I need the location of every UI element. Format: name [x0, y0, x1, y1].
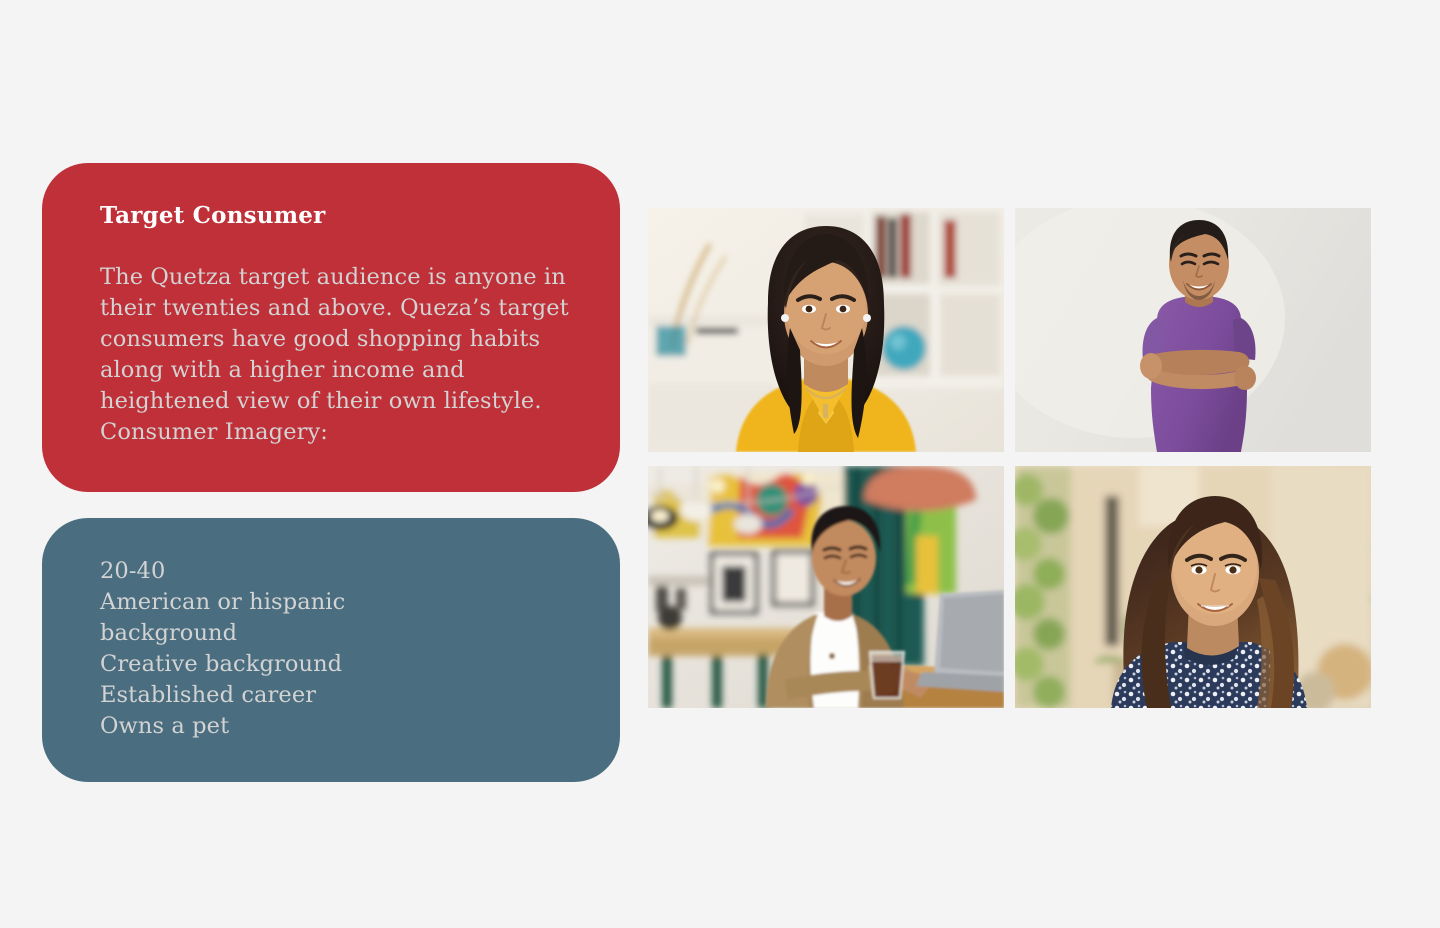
info-column: Target Consumer The Quetza target audien…	[42, 163, 620, 782]
consumer-traits-list: 20-40 American or hispanic background Cr…	[100, 556, 576, 742]
photo-illustration	[1015, 466, 1371, 708]
photo-illustration	[1015, 208, 1371, 452]
target-consumer-card: Target Consumer The Quetza target audien…	[42, 163, 620, 492]
photo-illustration	[648, 466, 1004, 708]
card-title-target-consumer: Target Consumer	[100, 203, 576, 228]
card-body-target-consumer: The Quetza target audience is anyone in …	[100, 262, 576, 448]
consumer-photo-woman-floral-top	[1015, 466, 1371, 708]
consumer-imagery-grid	[648, 208, 1371, 708]
consumer-photo-woman-yellow-blouse	[648, 208, 1004, 452]
list-item: background	[100, 618, 576, 649]
photo-illustration	[648, 208, 1004, 452]
consumer-photo-man-laptop-cafe	[648, 466, 1004, 708]
list-item: 20-40	[100, 556, 576, 587]
list-item: American or hispanic	[100, 587, 576, 618]
consumer-photo-man-purple-tshirt	[1015, 208, 1371, 452]
list-item: Established career	[100, 680, 576, 711]
list-item: Creative background	[100, 649, 576, 680]
list-item: Owns a pet	[100, 711, 576, 742]
consumer-traits-card: 20-40 American or hispanic background Cr…	[42, 518, 620, 782]
